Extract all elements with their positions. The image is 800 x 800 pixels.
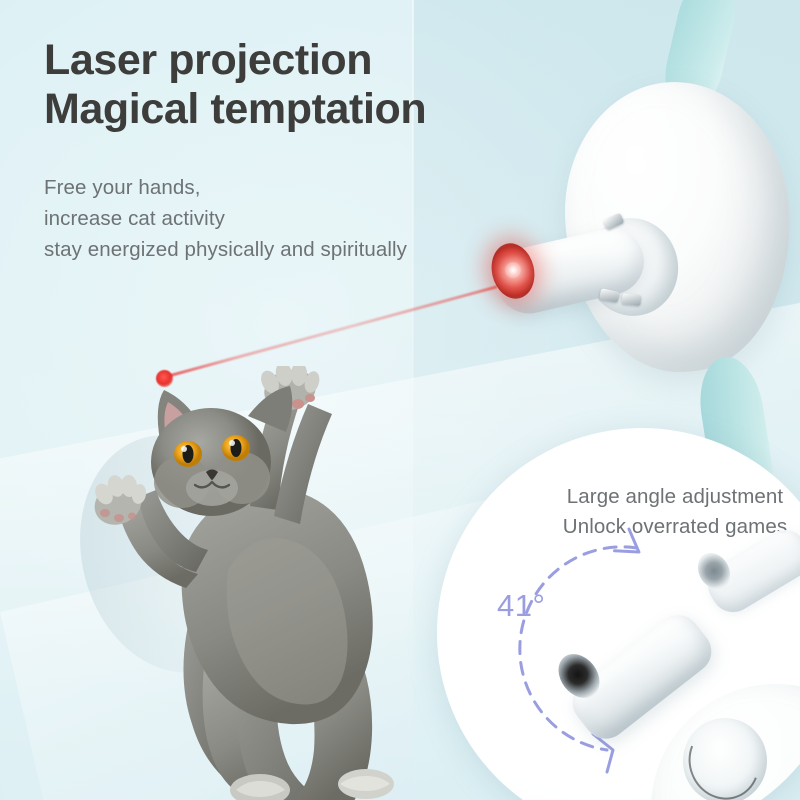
subcopy: Free your hands, increase cat activity s… bbox=[44, 172, 407, 265]
laser-aperture-glint bbox=[505, 262, 521, 278]
laser-dot-icon bbox=[156, 370, 173, 387]
cat-photo bbox=[78, 366, 438, 800]
subcopy-line-1: Free your hands, bbox=[44, 172, 407, 203]
angle-adjustment-inset: Large angle adjustment Unlock overrated … bbox=[437, 428, 800, 800]
headline-line-2: Magical temptation bbox=[44, 85, 426, 134]
nozzle-clip bbox=[621, 293, 641, 306]
subcopy-line-2: increase cat activity bbox=[44, 203, 407, 234]
subcopy-line-3: stay energized physically and spirituall… bbox=[44, 234, 407, 265]
headline-line-1: Laser projection bbox=[44, 36, 372, 84]
headline: Laser projection Magical temptation bbox=[44, 36, 426, 135]
product-banner: Laser projection Magical temptation Free… bbox=[0, 0, 800, 800]
